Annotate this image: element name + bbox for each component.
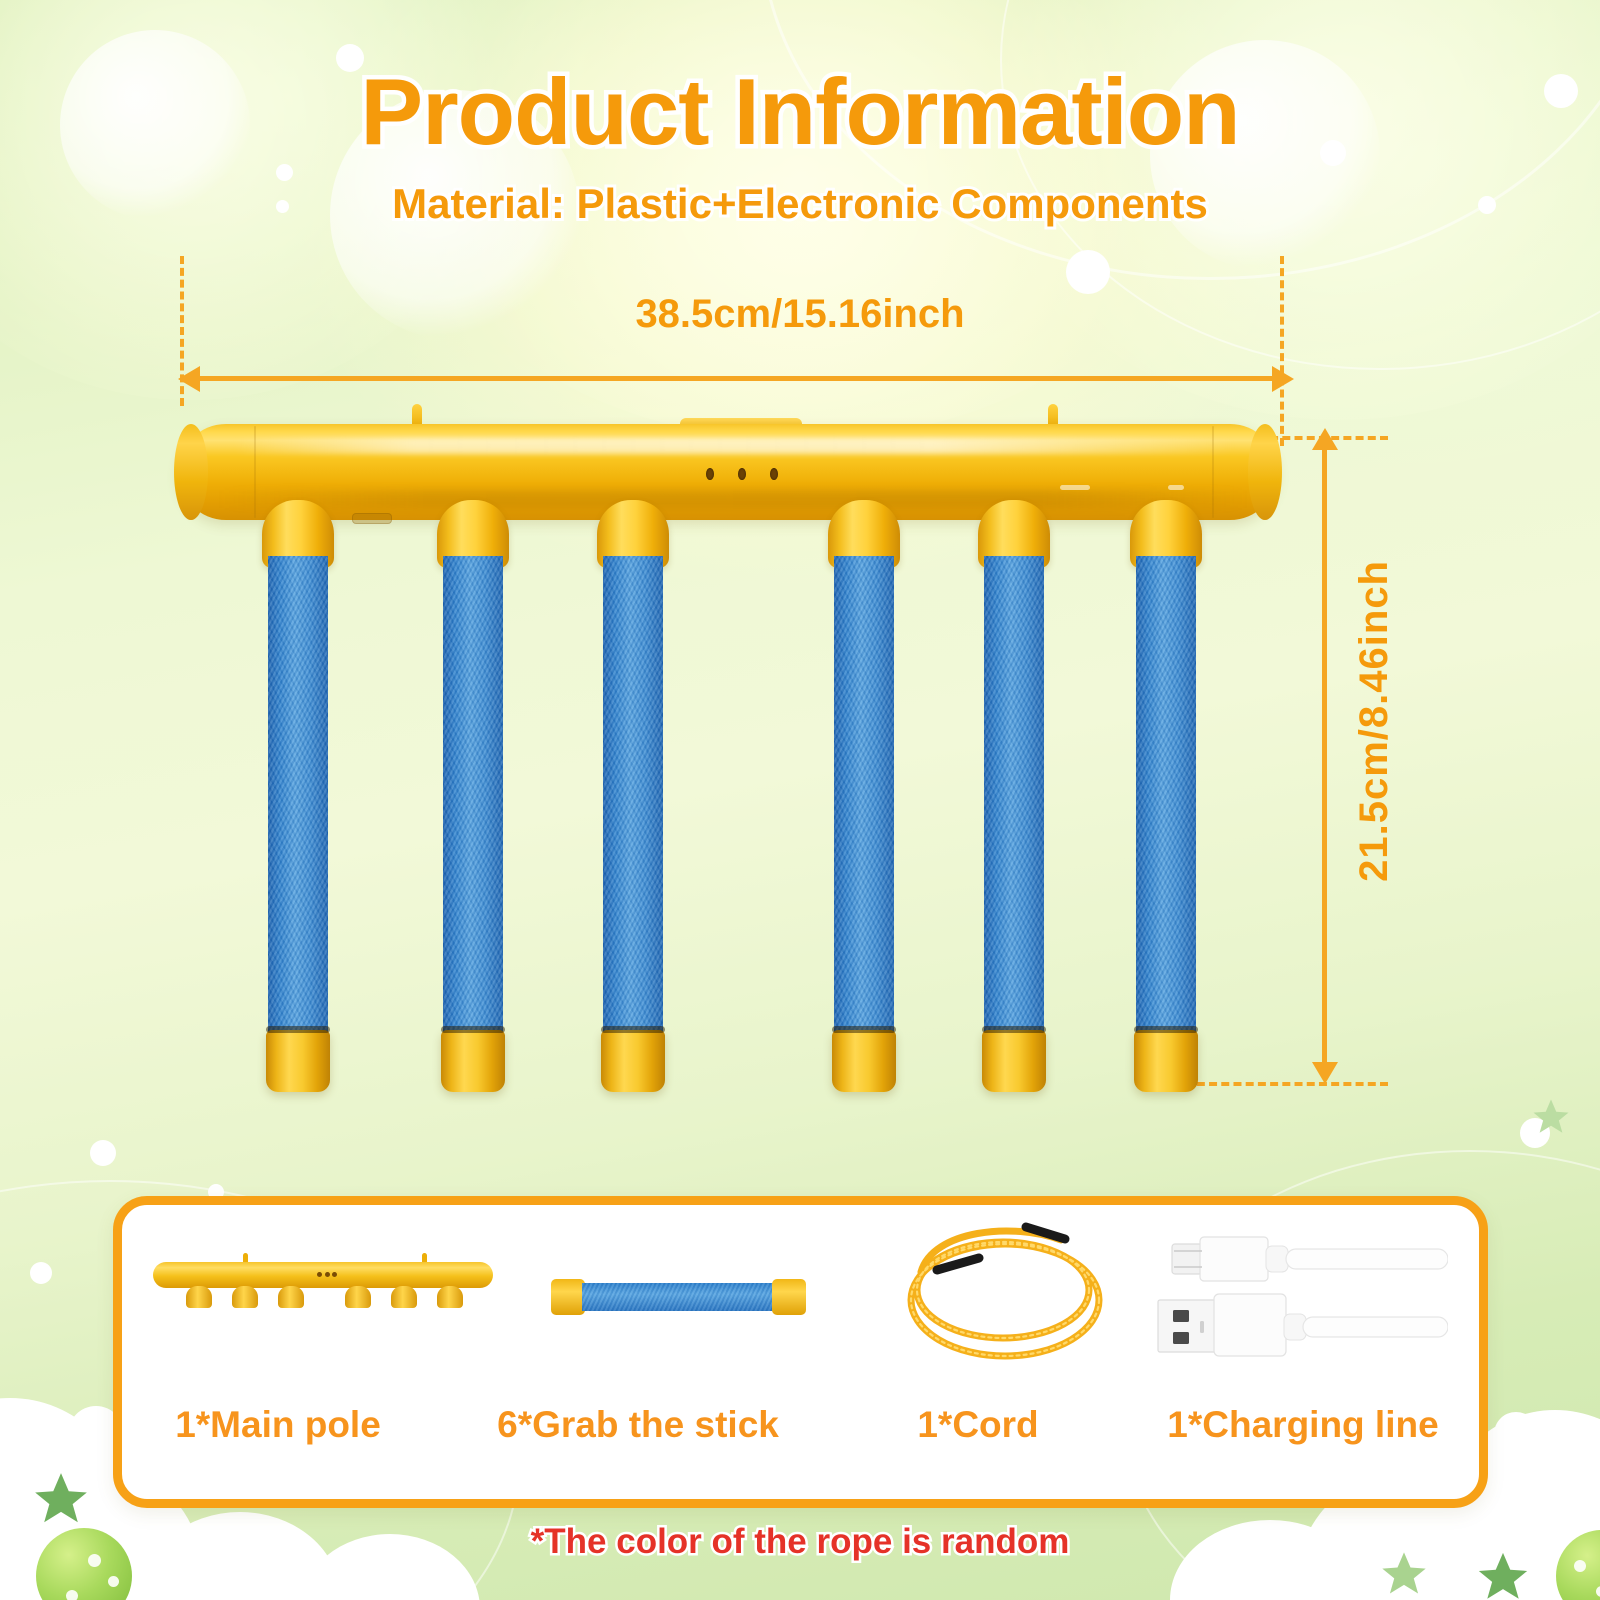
charging-port — [352, 513, 392, 524]
content-label-grab-stick: 6*Grab the stick — [443, 1404, 833, 1446]
stick-foam — [984, 556, 1044, 1038]
cloud-shape — [0, 1398, 130, 1600]
stick-tip-cap — [832, 1030, 896, 1092]
mini-stick-cap — [551, 1279, 585, 1315]
content-label-main-pole: 1*Main pole — [113, 1404, 443, 1446]
stick-foam — [834, 556, 894, 1038]
stick-foam — [268, 556, 328, 1038]
mini-socket — [278, 1286, 304, 1308]
charging-cable-icon — [1148, 1222, 1448, 1362]
usb-c-connector — [1172, 1237, 1448, 1281]
stick-tip-cap — [982, 1030, 1046, 1092]
stick-tip-cap — [601, 1030, 665, 1092]
bokeh-circle — [1494, 1412, 1538, 1456]
product-image — [0, 0, 1600, 1180]
mini-socket — [437, 1286, 463, 1308]
cord-icon — [893, 1212, 1123, 1372]
package-contents-labels: 1*Main pole 6*Grab the stick 1*Cord 1*Ch… — [113, 1390, 1488, 1460]
stick-foam — [1136, 556, 1196, 1038]
mini-socket — [345, 1286, 371, 1308]
rope-color-note: *The color of the rope is random — [0, 1522, 1600, 1562]
speaker-holes — [706, 468, 778, 480]
pole-slot — [1060, 485, 1090, 490]
bokeh-circle — [30, 1262, 52, 1284]
mini-stick-foam — [582, 1283, 774, 1311]
mini-socket — [186, 1286, 212, 1308]
stick-foam — [603, 556, 663, 1038]
mini-speaker-holes — [317, 1272, 337, 1277]
pole-shadow — [218, 490, 1248, 508]
mini-socket — [391, 1286, 417, 1308]
content-label-cord: 1*Cord — [833, 1404, 1123, 1446]
pole-highlight — [234, 438, 1234, 454]
usb-a-connector — [1158, 1294, 1448, 1356]
product-information-infographic: Product Information Material: Plastic+El… — [0, 0, 1600, 1600]
stick-tip-cap — [266, 1030, 330, 1092]
mini-socket — [232, 1286, 258, 1308]
mini-stick-cap — [772, 1279, 806, 1315]
pole-end-cap-left — [174, 424, 208, 520]
content-label-charging-line: 1*Charging line — [1123, 1404, 1483, 1446]
pole-slot — [1168, 485, 1184, 490]
stick-tip-cap — [1134, 1030, 1198, 1092]
stick-tip-cap — [441, 1030, 505, 1092]
star-icon — [30, 1468, 92, 1530]
pole-end-cap-right — [1248, 424, 1282, 520]
stick-foam — [443, 556, 503, 1038]
